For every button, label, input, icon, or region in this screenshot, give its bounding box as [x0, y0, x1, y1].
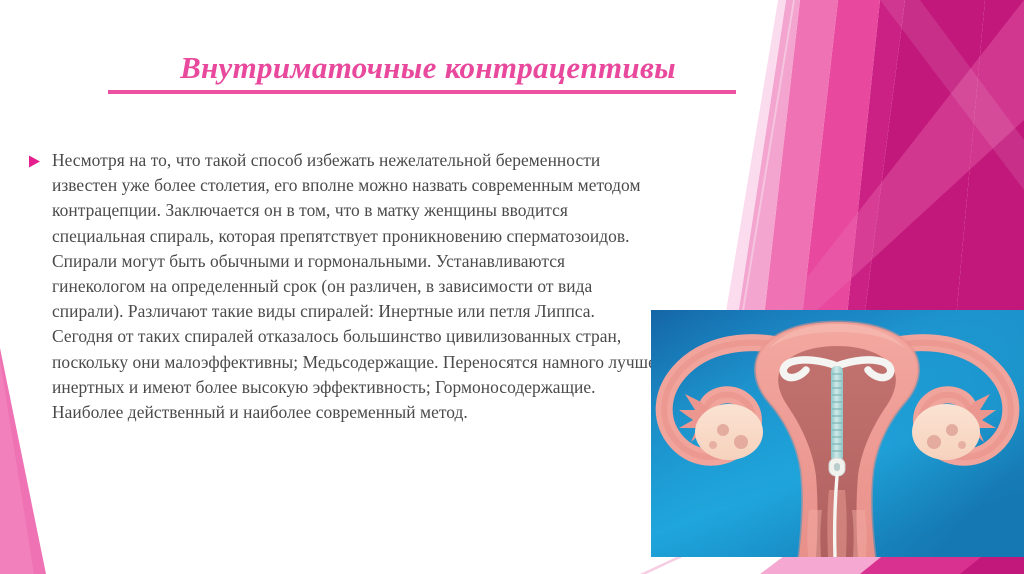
right-ovary — [912, 404, 980, 460]
right-follicle-3 — [958, 441, 966, 449]
page-title: Внутриматочные контрацептивы — [108, 50, 748, 86]
deco-shape-magenta — [862, 0, 985, 335]
deco-shape-magenta-2 — [845, 0, 905, 335]
left-follicle-3 — [709, 441, 717, 449]
right-follicle-1 — [946, 424, 958, 436]
left-follicle-2 — [734, 435, 748, 449]
deco-shape-cross-overlay — [762, 0, 1024, 335]
deco-top-right-ribbons — [700, 0, 1024, 335]
deco-shape-deep-magenta-right — [955, 0, 1024, 330]
right-follicle-2 — [927, 435, 941, 449]
triangle-right-icon — [28, 155, 42, 168]
left-follicle-1 — [717, 424, 729, 436]
deco-shape-hot-pink — [800, 0, 880, 335]
title-underline-rule — [108, 90, 736, 94]
slide-title-block: Внутриматочные контрацептивы — [108, 50, 748, 94]
body-paragraph: Несмотря на то, что такой способ избежат… — [52, 148, 658, 425]
deco-shape-cross-overlay-2 — [880, 0, 1024, 190]
slide-canvas: Внутриматочные контрацептивы Несмотря на… — [0, 0, 1024, 574]
cervix-shade — [807, 510, 822, 557]
cervix-shade-right — [852, 510, 867, 557]
uterus-with-iud-illustration — [651, 310, 1024, 557]
iud-base-knob-core — [834, 463, 840, 471]
left-ovary — [695, 404, 763, 460]
content-bullet-item: Несмотря на то, что такой способ избежат… — [28, 148, 658, 425]
deco-shape-mid-pink — [762, 0, 838, 335]
